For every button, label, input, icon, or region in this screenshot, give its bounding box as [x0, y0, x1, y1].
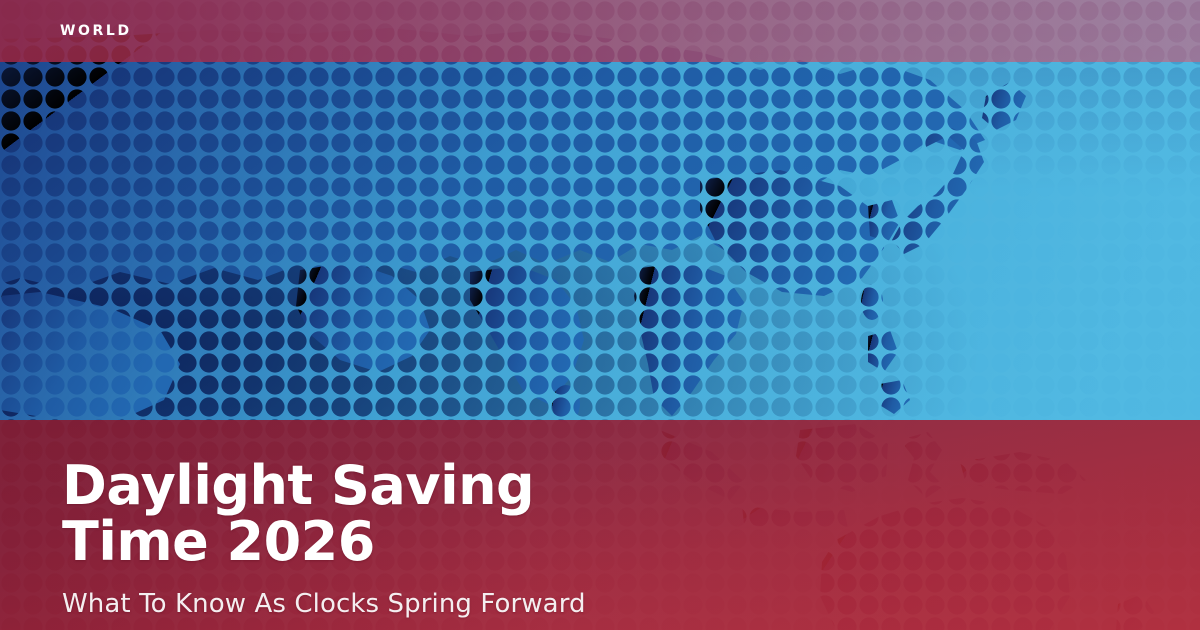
- category-band: WORLD: [0, 0, 1200, 62]
- page-title: Daylight Saving Time 2026: [62, 458, 822, 570]
- social-share-card: WORLD Daylight Saving Time 2026 What To …: [0, 0, 1200, 630]
- headline-line-1: Daylight Saving: [62, 454, 534, 517]
- category-kicker: WORLD: [60, 24, 132, 38]
- headline-block: Daylight Saving Time 2026 What To Know A…: [0, 420, 1200, 630]
- headline-line-2: Time 2026: [62, 510, 375, 573]
- page-subtitle: What To Know As Clocks Spring Forward: [62, 588, 1200, 620]
